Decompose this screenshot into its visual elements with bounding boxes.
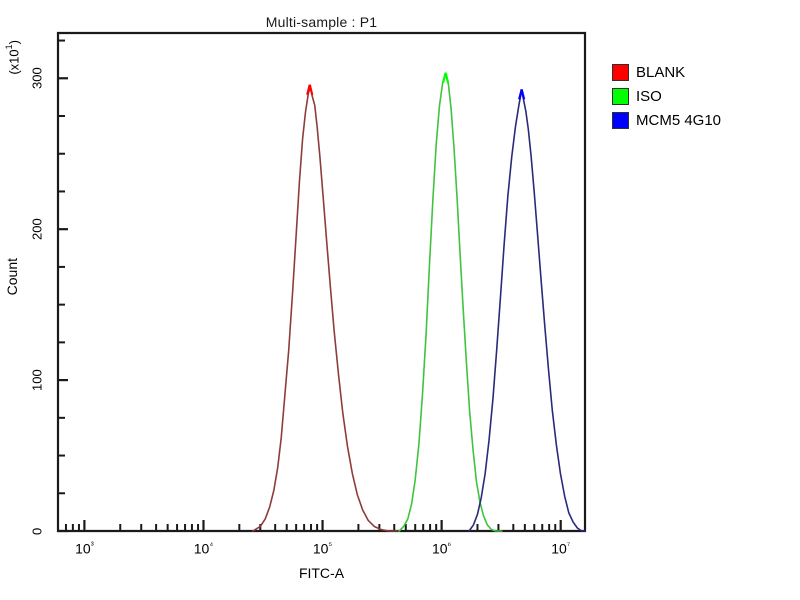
legend-item[interactable]: ISO xyxy=(612,84,721,108)
chart-legend: BLANKISOMCM5 4G10 xyxy=(612,60,721,132)
series-curve-blank xyxy=(253,86,398,531)
x-tick-label: 10⁴ xyxy=(178,540,228,557)
legend-label: ISO xyxy=(636,89,662,104)
legend-item[interactable]: MCM5 4G10 xyxy=(612,108,721,132)
legend-item[interactable]: BLANK xyxy=(612,60,721,84)
x-tick-label: 10⁷ xyxy=(536,540,586,557)
y-tick-label: 200 xyxy=(28,205,46,253)
x-tick-label: 10⁵ xyxy=(298,540,348,557)
series-curve-mcm5-4g10 xyxy=(469,90,585,531)
y-tick-label: 100 xyxy=(28,356,46,404)
x-tick-label: 10³ xyxy=(59,540,109,557)
legend-swatch-icon xyxy=(612,112,629,129)
chart-canvas: Multi-sample : P1 (x101) Count FITC-A 01… xyxy=(0,0,800,600)
series-peak-marker xyxy=(443,73,448,83)
y-tick-label: 300 xyxy=(28,54,46,102)
plot-frame xyxy=(58,33,585,531)
legend-swatch-icon xyxy=(612,88,629,105)
legend-label: MCM5 4G10 xyxy=(636,113,721,128)
legend-swatch-icon xyxy=(612,64,629,81)
y-tick-label: 0 xyxy=(28,507,46,555)
legend-label: BLANK xyxy=(636,65,685,80)
x-tick-label: 10⁶ xyxy=(417,540,467,557)
